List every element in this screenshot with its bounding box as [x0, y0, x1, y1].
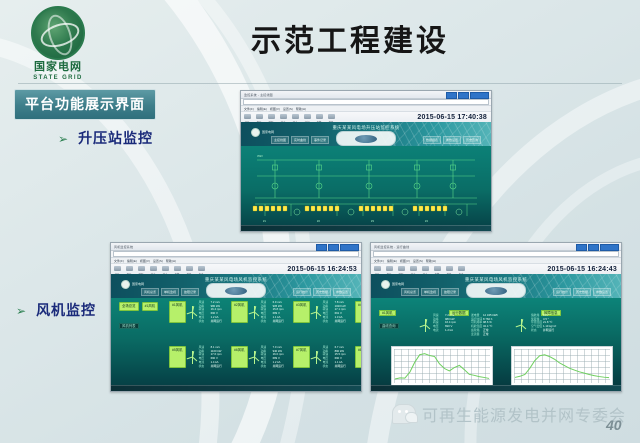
toolbar-icon [162, 266, 169, 271]
address-bar[interactable] [241, 99, 491, 106]
state-grid-emblem-icon [31, 6, 85, 60]
minimize-button[interactable] [316, 244, 327, 251]
curve-status-bar: 通信正常 [371, 385, 621, 391]
turbine-values: 风速7.2 m/s 功率980 kW 转速16.4 rpm 电压690 V 电流… [199, 301, 222, 323]
scada-nav-right[interactable]: 数据报表 参数设置 历史查询 [423, 136, 481, 144]
svg-text:#3: #3 [371, 219, 374, 223]
bullet-arrow-icon: ➢ [58, 132, 69, 146]
state-grid-logo: 国家电网 STATE GRID [14, 6, 102, 80]
bullet-arrow-icon: ➢ [16, 304, 27, 318]
nav-item[interactable]: 历史数据 [573, 288, 591, 296]
minimize-button[interactable] [446, 92, 457, 99]
turbine-emblem-icon [225, 287, 247, 295]
menu-item[interactable]: 视图(V) [270, 107, 280, 111]
toolbar-icon [374, 266, 381, 271]
toolbar-icon [174, 266, 181, 271]
turbine-id: #5风机 [169, 346, 186, 368]
curve-selected-chip[interactable]: 曲线查询 [379, 314, 399, 332]
curve-view[interactable]: 国家电网 重庆某某风电场风机监控系统 风机总览 单机监视 故障记录 运行统计 历… [371, 274, 621, 391]
address-input[interactable] [243, 99, 489, 105]
turbine-id: #8风机 [355, 346, 361, 368]
address-input[interactable] [373, 251, 619, 257]
toolbar-icon [198, 266, 205, 271]
nav-item[interactable]: 历史数据 [313, 288, 331, 296]
menu-item[interactable]: 视图(V) [140, 259, 150, 263]
toolbar-icon [256, 114, 263, 119]
filter-chip[interactable]: 全场总览 [119, 302, 139, 311]
chart-wind[interactable] [511, 346, 613, 386]
svg-text:#4: #4 [425, 219, 428, 223]
address-bar[interactable] [111, 251, 361, 258]
turbine-filter-chips[interactable]: 全场总览 #1风机 [119, 302, 158, 311]
curve-info-right: 偏航角124 ° 桨距角3.5 ° 环境温度21.8 ℃ 空气密度1.19 kg… [531, 314, 556, 332]
turbine-icon [188, 346, 197, 364]
curve-info-mid: 发电量12 345 kWh 运行时间8 760 h 可利用率98.6 % 机舱温… [471, 314, 498, 336]
page-number: 40 [606, 417, 622, 433]
footer-watermark: 可再生能源发电并网专委会 [392, 402, 626, 426]
toolbar-icon [304, 114, 311, 119]
turbine-logo-text: 国家电网 [132, 283, 144, 286]
svg-text:#2: #2 [317, 219, 320, 223]
turbine-values: 风速7.0 m/s 功率940 kW 转速16.0 rpm 电压689 V 电流… [261, 346, 284, 368]
scada-banner: 国家电网 重庆某某风电场升压站监控系统 主接线图 实时曲线 事件记录 数据报表 … [241, 122, 491, 146]
restore-button[interactable] [458, 92, 469, 99]
turbine-icon [250, 346, 259, 364]
filter-chip[interactable]: #1风机 [142, 302, 159, 311]
kv-row: 状态并网运行 [199, 320, 222, 323]
window-title: 风机监控系统 - 运行曲线 [374, 245, 409, 249]
bullet-label: 风机监控 [36, 302, 96, 318]
kv-row: 变流器正常 [471, 333, 498, 336]
bullet-label: 升压站监控 [78, 130, 153, 146]
window-title: 监控系统 - 主接线图 [244, 93, 273, 97]
toolbar-icon [244, 114, 251, 119]
kv-row: 电流1.2 kA [433, 329, 456, 332]
window-controls[interactable] [316, 244, 359, 251]
nav-item[interactable]: 数据报表 [423, 136, 441, 144]
screenshot-substation-window[interactable]: 监控系统 - 主接线图 文件(F) 编辑(E) 视图(V) 设置(S) 帮助(H… [240, 90, 492, 232]
header-divider [18, 83, 622, 84]
chart-wind-svg [514, 349, 610, 383]
turbine-id: #2风机 [231, 301, 248, 323]
close-button[interactable] [600, 244, 619, 251]
window-controls[interactable] [576, 244, 619, 251]
restore-button[interactable] [588, 244, 599, 251]
turbine-cell[interactable]: #2风机 风速6.9 m/s 功率905 kW 转速15.8 rpm 电压689… [231, 301, 284, 323]
menu-item[interactable]: 编辑(E) [257, 107, 267, 111]
turbine-id: #1风机 [169, 301, 186, 323]
kv-row: 状态并网运行 [261, 320, 284, 323]
turbine-cell[interactable]: #8风机 风速7.5 m/s 功率1000 kW 转速16.8 rpm 电压69… [355, 346, 361, 368]
curve-emblem-icon [485, 287, 507, 295]
toolbar-icon [114, 266, 121, 271]
clock-display: 2015-06-15 16:24:43 [547, 266, 617, 273]
slide-canvas: 国家电网 STATE GRID 示范工程建设 平台功能展示界面 ➢升压站监控 ➢… [0, 0, 640, 443]
bullet-item-turbine: ➢风机监控 [16, 300, 96, 320]
address-input[interactable] [113, 251, 359, 257]
toolbar-icon [422, 266, 429, 271]
menu-item[interactable]: 设置(S) [283, 107, 293, 111]
menu-item[interactable]: 设置(S) [153, 259, 163, 263]
toolbar-icon [280, 114, 287, 119]
turbine-cell[interactable]: #6风机 风速7.0 m/s 功率940 kW 转速16.0 rpm 电压689… [231, 346, 284, 368]
turbine-icon [250, 301, 259, 319]
toolbar-icon [186, 266, 193, 271]
scada-emblem [336, 131, 396, 146]
scada-nav-left[interactable]: 主接线图 实时曲线 事件记录 [271, 136, 329, 144]
single-line-diagram[interactable]: 35kV #1#2 #3#4 通信正常 运行中 [241, 146, 491, 231]
menu-item[interactable]: 文件(F) [114, 259, 124, 263]
turbine-cell[interactable]: #5风机 风速8.1 m/s 功率1100 kW 转速17.6 rpm 电压69… [169, 346, 222, 368]
nav-item[interactable]: 事件记录 [311, 136, 329, 144]
clock-display: 2015-06-15 16:24:53 [287, 266, 357, 273]
toolbar-icon [150, 266, 157, 271]
nav-item[interactable]: 运行统计 [293, 288, 311, 296]
curve-nav-left[interactable]: 风机总览 单机监视 故障记录 [401, 288, 459, 296]
address-bar[interactable] [371, 251, 621, 258]
curve-nav-right[interactable]: 运行统计 历史数据 参数设置 [553, 288, 611, 296]
toolbar-icon [292, 114, 299, 119]
chart-power[interactable] [391, 346, 493, 386]
toolbar-icon [410, 266, 417, 271]
selected-chip[interactable]: 曲线查询 [379, 323, 399, 329]
turbine-icon [188, 301, 197, 319]
screenshot-turbine-window[interactable]: 风机监控系统 文件(F) 编辑(E) 视图(V) 设置(S) 帮助(H) 打开 … [110, 242, 362, 392]
turbine-overview-view[interactable]: 国家电网 重庆某某风电场风机监控系统 风机总览 单机监视 故障记录 运行统计 历… [111, 274, 361, 391]
turbine-id: #3风机 [293, 301, 310, 323]
curve-info-left: 风速7.2 m/s 功率980 kW 转速16.4 rpm 电压690 V 电流… [433, 314, 456, 332]
menu-item[interactable]: 帮助(H) [426, 259, 436, 263]
kv-row: 状态并网运行 [199, 365, 222, 368]
toolbar-icon [398, 266, 405, 271]
nav-item[interactable]: 单机监视 [421, 288, 439, 296]
close-button[interactable] [470, 92, 489, 99]
nav-item[interactable]: 风机总览 [401, 288, 419, 296]
scada-status-bar: 通信正常 运行中 [241, 225, 491, 231]
nav-item[interactable]: 风机总览 [141, 288, 159, 296]
nav-item[interactable]: 参数设置 [443, 136, 461, 144]
diagram-busbar-label: 35kV [257, 154, 263, 158]
nav-item[interactable]: 故障记录 [441, 288, 459, 296]
toolbar-icon [138, 266, 145, 271]
nav-item[interactable]: 故障记录 [181, 288, 199, 296]
turbine-cell[interactable]: #3风机 风速7.8 m/s 功率1020 kW 转速17.1 rpm 电压69… [293, 301, 346, 323]
turbine-values: 风速8.1 m/s 功率1100 kW 转速17.6 rpm 电压690 V 电… [199, 346, 222, 368]
toolbar-icon [458, 266, 465, 271]
turbine-values: 风速7.8 m/s 功率1020 kW 转速17.1 rpm 电压691 V 电… [323, 301, 346, 323]
toolbar-icon [434, 266, 441, 271]
nav-item[interactable]: 单机监视 [161, 288, 179, 296]
nav-item[interactable]: 参数设置 [593, 288, 611, 296]
turbine-cell[interactable]: #1风机 风速7.2 m/s 功率980 kW 转速16.4 rpm 电压690… [169, 301, 222, 323]
single-line-diagram-svg: 35kV #1#2 #3#4 [241, 146, 491, 226]
footer-label: 可再生能源发电并网专委会 [422, 402, 626, 426]
toolbar-icon [446, 266, 453, 271]
menu-item[interactable]: 文件(F) [374, 259, 384, 263]
turbine-banner: 国家电网 重庆某某风电场风机监控系统 风机总览 单机监视 故障记录 运行统计 历… [111, 274, 361, 298]
nav-item[interactable]: 历史查询 [463, 136, 481, 144]
nav-item[interactable]: 参数设置 [333, 288, 351, 296]
turbine-emblem [206, 283, 266, 298]
scada-emblem-icon [355, 135, 377, 143]
window-titlebar[interactable]: 风机监控系统 [111, 243, 361, 251]
scada-logo-text: 国家电网 [262, 131, 274, 134]
kv-row: 状态并网运行 [323, 320, 346, 323]
toolbar-icon [386, 266, 393, 271]
turbine-nav-left[interactable]: 风机总览 单机监视 故障记录 [141, 288, 199, 296]
close-button[interactable] [340, 244, 359, 251]
turbine-icon [312, 346, 321, 364]
menu-item[interactable]: 帮助(H) [166, 259, 176, 263]
nav-item[interactable]: 运行统计 [553, 288, 571, 296]
svg-text:#1: #1 [263, 219, 266, 223]
menu-item[interactable]: 设置(S) [413, 259, 423, 263]
selected-chip[interactable]: 风机列表 [119, 323, 139, 329]
page-title: 示范工程建设 [200, 18, 500, 66]
logo-name-en: STATE GRID [14, 74, 102, 82]
minimize-button[interactable] [576, 244, 587, 251]
window-titlebar[interactable]: 风机监控系统 - 运行曲线 [371, 243, 621, 251]
window-titlebar[interactable]: 监控系统 - 主接线图 [241, 91, 491, 99]
nav-item[interactable]: 主接线图 [271, 136, 289, 144]
menu-item[interactable]: 编辑(E) [387, 259, 397, 263]
restore-button[interactable] [328, 244, 339, 251]
wechat-icon [392, 404, 416, 424]
window-controls[interactable] [446, 92, 489, 99]
kv-row: 状态并网运行 [323, 365, 346, 368]
turbine-cell[interactable]: #7风机 风速6.7 m/s 功率890 kW 转速15.5 rpm 电压690… [293, 346, 346, 368]
slide-header: 国家电网 STATE GRID 示范工程建设 [0, 0, 640, 84]
menu-item[interactable]: 文件(F) [244, 107, 254, 111]
menu-item[interactable]: 帮助(H) [296, 107, 306, 111]
logo-name-cn: 国家电网 [14, 61, 102, 74]
menu-item[interactable]: 视图(V) [400, 259, 410, 263]
turbine-status-bar: 通信正常 [111, 385, 361, 391]
turbine-icon [517, 314, 526, 332]
scada-diagram-view[interactable]: 国家电网 重庆某某风电场升压站监控系统 主接线图 实时曲线 事件记录 数据报表 … [241, 122, 491, 231]
menu-item[interactable]: 编辑(E) [127, 259, 137, 263]
curve-logo-text: 国家电网 [392, 283, 404, 286]
screenshot-curves-window[interactable]: 风机监控系统 - 运行曲线 文件(F) 编辑(E) 视图(V) 设置(S) 帮助… [370, 242, 622, 392]
clock-display: 2015-06-15 17:40:38 [417, 114, 487, 121]
window-title: 风机监控系统 [114, 245, 133, 249]
turbine-id: #4风机 [355, 301, 361, 323]
panel-tag: 平台功能展示界面 [14, 89, 156, 120]
toolbar-icon [268, 114, 275, 119]
chart-power-svg [394, 349, 490, 383]
turbine-icon [421, 314, 430, 332]
curve-banner: 国家电网 重庆某某风电场风机监控系统 风机总览 单机监视 故障记录 运行统计 历… [371, 274, 621, 298]
turbine-nav-right[interactable]: 运行统计 历史数据 参数设置 [293, 288, 351, 296]
turbine-cell[interactable]: #4风机 风速6.4 m/s 功率860 kW 转速15.2 rpm 电压688… [355, 301, 361, 323]
kv-row: 状态并网运行 [531, 329, 556, 332]
turbine-icon [312, 301, 321, 319]
toolbar-icon [328, 114, 335, 119]
turbine-values: 风速6.9 m/s 功率905 kW 转速15.8 rpm 电压689 V 电流… [261, 301, 284, 323]
bullet-item-substation: ➢升压站监控 [58, 128, 153, 148]
nav-item[interactable]: 实时曲线 [291, 136, 309, 144]
kv-row: 状态并网运行 [261, 365, 284, 368]
toolbar-icon [316, 114, 323, 119]
curve-emblem [466, 283, 526, 298]
turbine-id: #6风机 [231, 346, 248, 368]
turbine-id: #7风机 [293, 346, 310, 368]
toolbar-icon [126, 266, 133, 271]
turbine-list-selector[interactable]: 风机列表 [119, 314, 139, 332]
turbine-values: 风速6.7 m/s 功率890 kW 转速15.5 rpm 电压690 V 电流… [323, 346, 346, 368]
